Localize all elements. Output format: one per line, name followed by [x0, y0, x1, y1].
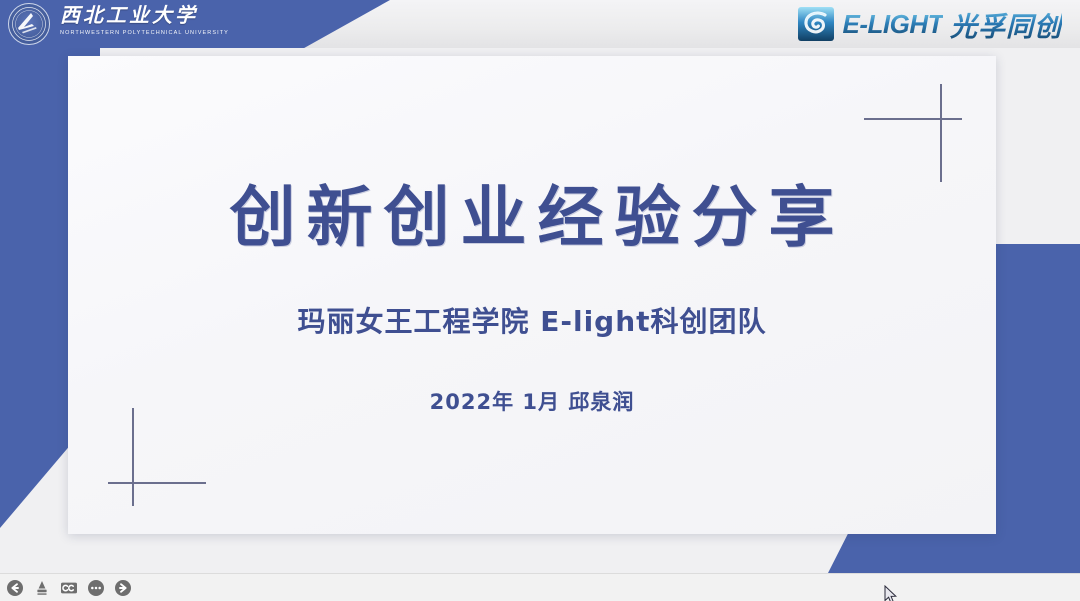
more-options-button[interactable] [86, 578, 105, 597]
sponsor-logo-block: E-LIGHT 光孚同创 [796, 0, 1063, 48]
header-bar: 西北工业大学 NORTHWESTERN POLYTECHNICAL UNIVER… [0, 0, 1080, 48]
next-slide-button[interactable] [113, 578, 132, 597]
university-name-en: NORTHWESTERN POLYTECHNICAL UNIVERSITY [60, 29, 280, 38]
university-name-cn: 西北工业大学 [60, 4, 280, 28]
slide-text-block: 创新创业经验分享 玛丽女王工程学院 E-light科创团队 2022年 1月 邱… [68, 56, 996, 534]
slide-subtitle: 玛丽女王工程学院 E-light科创团队 [68, 300, 996, 340]
sponsor-name-en: E-LIGHT [843, 9, 944, 40]
university-name-block: 西北工业大学 NORTHWESTERN POLYTECHNICAL UNIVER… [60, 4, 280, 44]
slide-date-author: 2022年 1月 邱泉润 [68, 386, 996, 416]
slide-stage: 创新创业经验分享 玛丽女王工程学院 E-light科创团队 2022年 1月 邱… [0, 48, 1080, 573]
sponsor-name-cn: 光孚同创 [950, 5, 1062, 44]
mouse-pointer [884, 585, 898, 601]
pen-tool-button[interactable] [32, 578, 51, 597]
slide-title: 创新创业经验分享 [68, 164, 996, 260]
npu-seal-icon [8, 3, 50, 45]
closed-captions-button[interactable] [59, 578, 78, 597]
elight-swirl-icon [796, 4, 836, 44]
previous-slide-button[interactable] [5, 578, 24, 597]
presentation-viewer: 西北工业大学 NORTHWESTERN POLYTECHNICAL UNIVER… [0, 0, 1080, 601]
slide-content-card: 创新创业经验分享 玛丽女王工程学院 E-light科创团队 2022年 1月 邱… [68, 56, 996, 534]
playback-toolbar [0, 573, 1080, 601]
